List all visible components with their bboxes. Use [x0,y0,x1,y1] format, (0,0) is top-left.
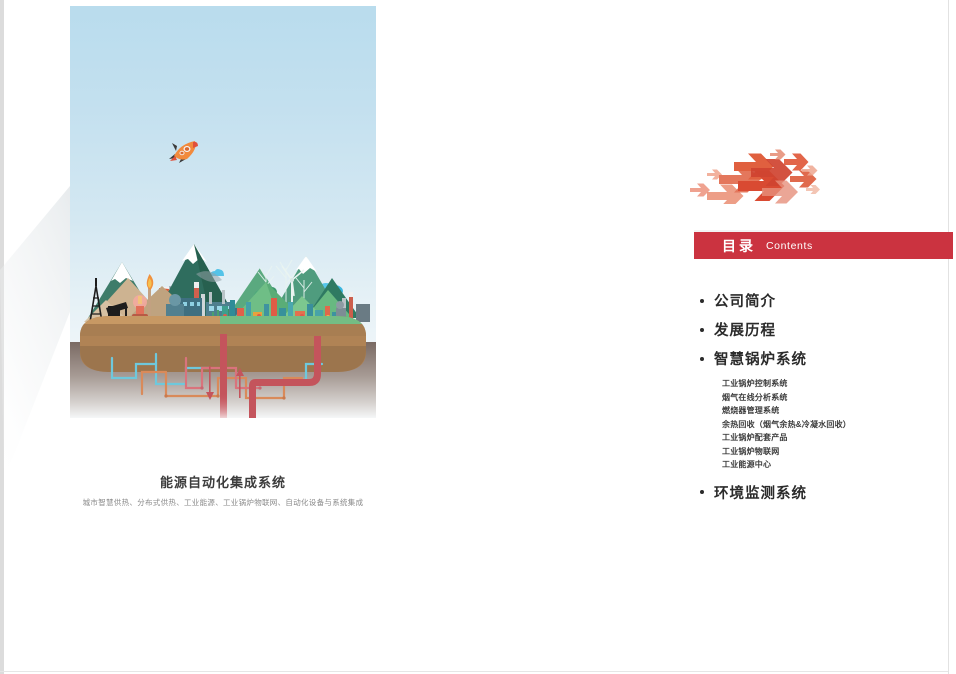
cover-poster [70,6,376,418]
toc-item-label: 公司简介 [714,290,776,311]
toc-subitem[interactable]: 余热回收（烟气余热&冷凝水回收） [722,418,950,432]
toc-subitem[interactable]: 工业锅炉配套产品 [722,431,950,445]
page-left-edge [0,0,4,674]
rocket-icon [165,136,205,166]
bullet-icon [700,490,704,494]
toc-header-title-cn: 目录 [722,236,756,256]
toc-item-smart-boiler-system[interactable]: 智慧锅炉系统 [700,348,950,369]
toc-subitem-list: 工业锅炉控制系统 烟气在线分析系统 燃烧器管理系统 余热回收（烟气余热&冷凝水回… [722,377,950,472]
energy-landscape-illustration [70,6,376,418]
toc-item-label: 智慧锅炉系统 [714,348,807,369]
toc-subitem[interactable]: 工业锅炉控制系统 [722,377,950,391]
page-bottom-edge [0,671,948,672]
toc-subitem[interactable]: 工业锅炉物联网 [722,445,950,459]
arrows-logo [686,142,826,204]
toc-subitem[interactable]: 烟气在线分析系统 [722,391,950,405]
poster-title: 能源自动化集成系统 [70,472,376,491]
arrows-logo-icon [686,142,826,204]
toc-header-title-en: Contents [766,240,813,252]
bullet-icon [700,357,704,361]
toc-subitem[interactable]: 燃烧器管理系统 [722,404,950,418]
toc-item-environment-monitoring[interactable]: 环境监测系统 [700,482,950,503]
toc-subitem[interactable]: 工业能源中心 [722,458,950,472]
page-canvas: 能源自动化集成系统 城市智慧供热、分布式供热、工业能源、工业锅炉物联网、自动化设… [0,0,956,674]
toc-item-company-intro[interactable]: 公司简介 [700,290,950,311]
toc-item-history[interactable]: 发展历程 [700,319,950,340]
toc-item-label: 环境监测系统 [714,482,807,503]
toc-item-label: 发展历程 [714,319,776,340]
toc-header-bar: 目录 Contents [694,232,953,259]
toc-list: 公司简介 发展历程 智慧锅炉系统 工业锅炉控制系统 烟气在线分析系统 燃烧器管理… [700,290,950,511]
bullet-icon [700,328,704,332]
poster-subtitle: 城市智慧供热、分布式供热、工业能源、工业锅炉物联网、自动化设备与系统集成 [70,497,376,508]
bullet-icon [700,299,704,303]
